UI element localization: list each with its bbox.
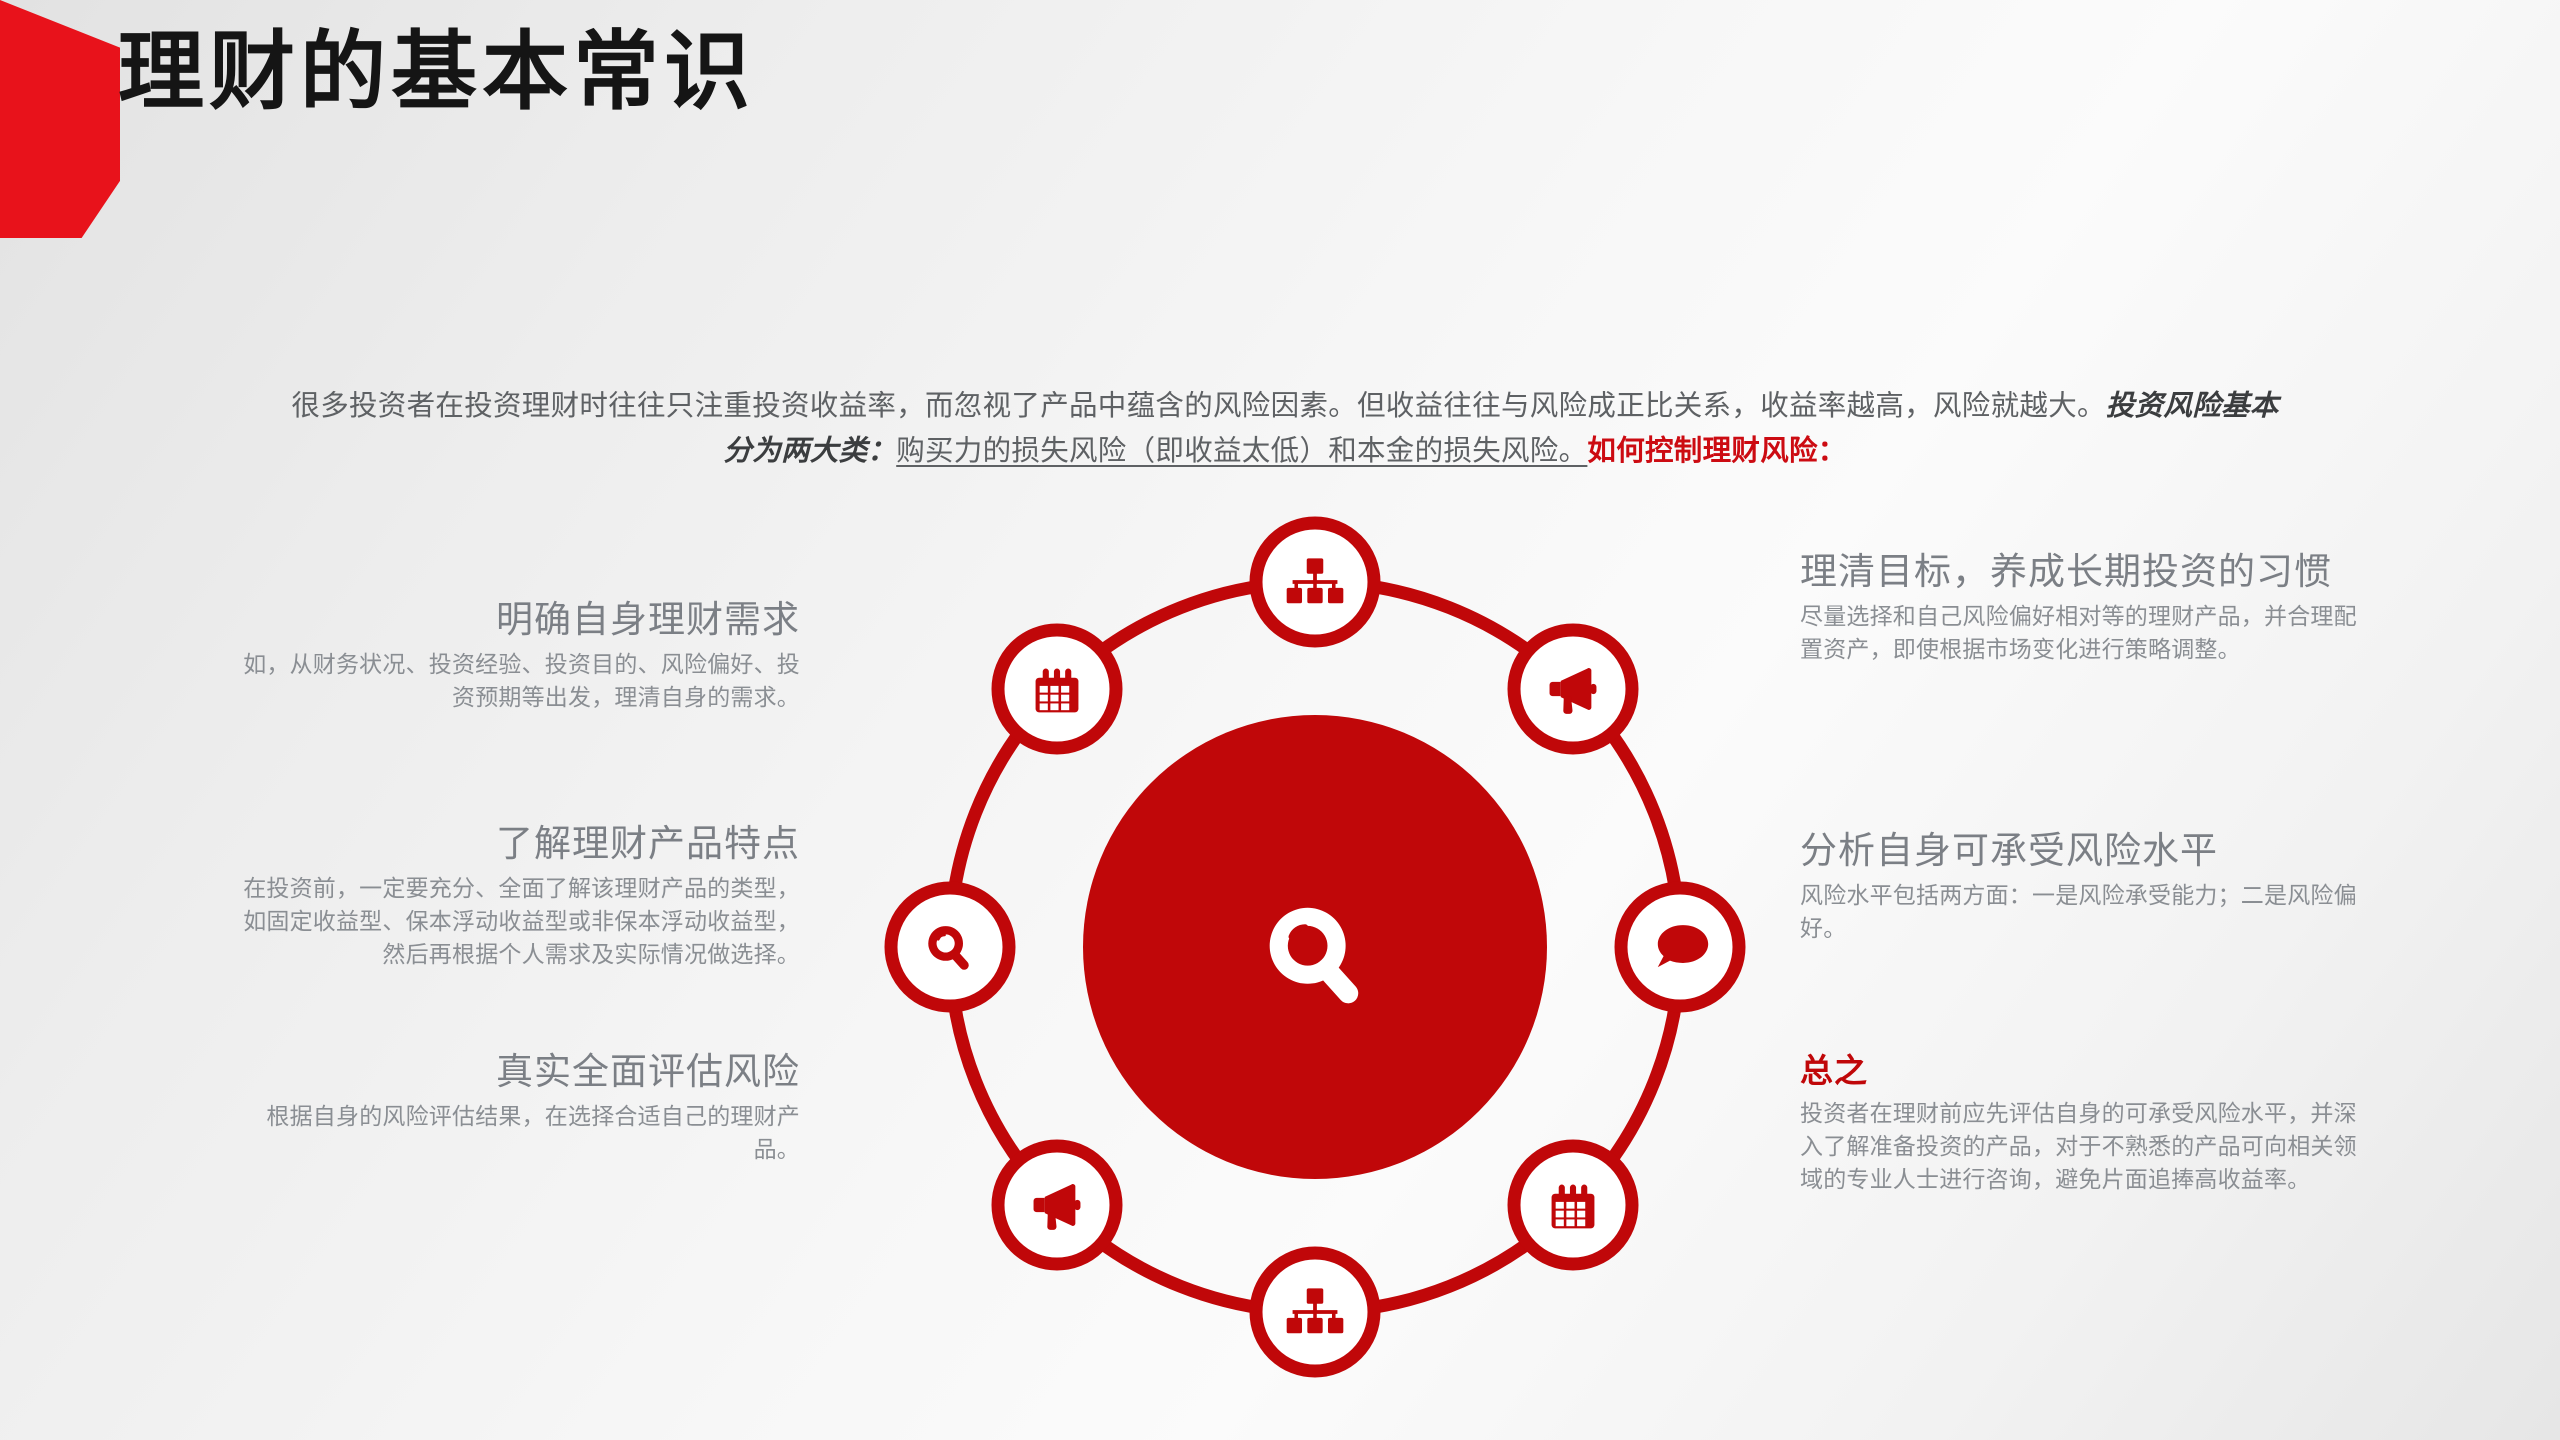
left-block-2: 了解理财产品特点 在投资前，一定要充分、全面了解该理财产品的类型，如固定收益型、… bbox=[240, 820, 800, 971]
intro-paragraph: 很多投资者在投资理财时往往只注重投资收益率，而忽视了产品中蕴含的风险因素。但收益… bbox=[290, 383, 2280, 473]
right-block-2-heading: 分析自身可承受风险水平 bbox=[1800, 827, 2360, 874]
intro-accent: 如何控制理财风险： bbox=[1587, 434, 1846, 467]
left-block-1: 明确自身理财需求 如，从财务状况、投资经验、投资目的、风险偏好、投资预期等出发，… bbox=[240, 596, 800, 715]
page-title: 理财的基本常识 bbox=[118, 20, 755, 125]
left-block-2-body: 在投资前，一定要充分、全面了解该理财产品的类型，如固定收益型、保本浮动收益型或非… bbox=[240, 873, 800, 971]
left-block-2-heading: 了解理财产品特点 bbox=[240, 820, 800, 867]
left-block-1-body: 如，从财务状况、投资经验、投资目的、风险偏好、投资预期等出发，理清自身的需求。 bbox=[240, 649, 800, 714]
node-right-speech-bubble[interactable] bbox=[1621, 888, 1739, 1006]
intro-underlined: 购买力的损失风险（即收益太低）和本金的损失风险。 bbox=[896, 434, 1587, 467]
left-block-1-heading: 明确自身理财需求 bbox=[240, 596, 800, 643]
node-bottom-right-calendar[interactable] bbox=[1514, 1146, 1632, 1264]
right-block-2: 分析自身可承受风险水平 风险水平包括两方面：一是风险承受能力；二是风险偏好。 bbox=[1800, 827, 2360, 946]
right-block-3: 总之 投资者在理财前应先评估自身的可承受风险水平，并深入了解准备投资的产品，对于… bbox=[1800, 1050, 2360, 1196]
node-left-magnifier[interactable] bbox=[891, 888, 1009, 1006]
node-top-hierarchy[interactable] bbox=[1256, 523, 1374, 641]
intro-part1: 很多投资者在投资理财时往往只注重投资收益率，而忽视了产品中蕴含的风险因素。但收益… bbox=[291, 389, 2105, 422]
left-block-3-heading: 真实全面评估风险 bbox=[240, 1048, 800, 1095]
node-bottom-left-megaphone[interactable] bbox=[998, 1146, 1116, 1264]
left-block-3-body: 根据自身的风险评估结果，在选择合适自己的理财产品。 bbox=[240, 1101, 800, 1166]
right-block-1: 理清目标，养成长期投资的习惯 尽量选择和自己风险偏好相对等的理财产品，并合理配置… bbox=[1800, 548, 2360, 667]
left-block-3: 真实全面评估风险 根据自身的风险评估结果，在选择合适自己的理财产品。 bbox=[240, 1048, 800, 1167]
right-block-3-body: 投资者在理财前应先评估自身的可承受风险水平，并深入了解准备投资的产品，对于不熟悉… bbox=[1800, 1098, 2360, 1196]
title-banner-shape bbox=[0, 0, 120, 238]
node-top-left-calendar[interactable] bbox=[998, 630, 1116, 748]
node-bottom-hierarchy[interactable] bbox=[1256, 1253, 1374, 1371]
diagram-center-disc bbox=[1083, 715, 1547, 1179]
right-block-1-heading: 理清目标，养成长期投资的习惯 bbox=[1800, 548, 2360, 595]
node-top-right-megaphone[interactable] bbox=[1514, 630, 1632, 748]
right-block-1-body: 尽量选择和自己风险偏好相对等的理财产品，并合理配置资产，即使根据市场变化进行策略… bbox=[1800, 601, 2360, 666]
circular-diagram bbox=[825, 500, 1805, 1390]
right-block-3-heading: 总之 bbox=[1800, 1050, 2360, 1092]
right-block-2-body: 风险水平包括两方面：一是风险承受能力；二是风险偏好。 bbox=[1800, 880, 2360, 945]
